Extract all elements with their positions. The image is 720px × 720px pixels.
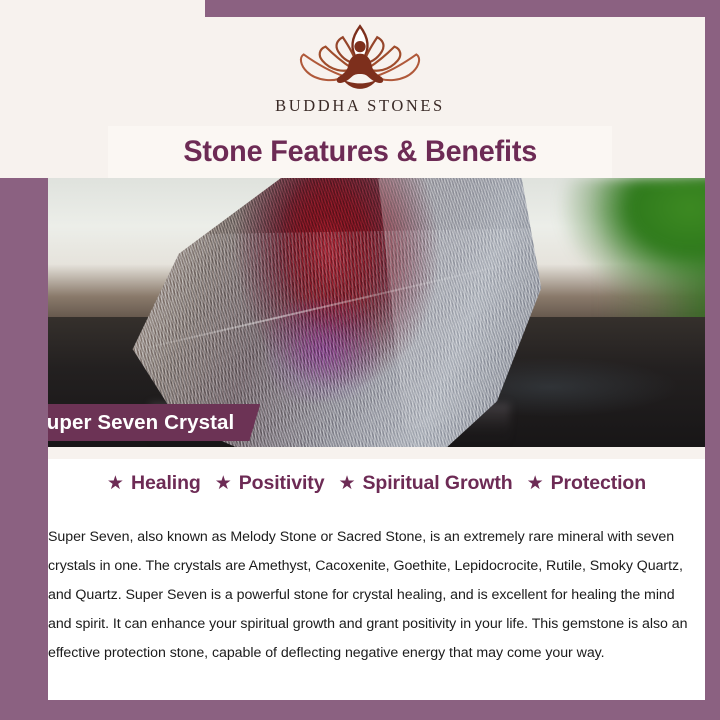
brand-logo: BUDDHA STONES — [0, 20, 720, 116]
frame-left-edge — [0, 178, 15, 720]
product-caption-banner: Super Seven Crystal — [15, 404, 260, 441]
title-band: Stone Features & Benefits — [108, 126, 612, 178]
product-caption: Super Seven Crystal — [33, 411, 234, 435]
benefit-label: Protection — [551, 472, 646, 495]
benefit-label: Spiritual Growth — [363, 472, 513, 495]
benefit-label: Positivity — [239, 472, 325, 495]
frame-left-inner-band — [15, 178, 48, 700]
star-icon: ★ — [107, 474, 124, 493]
star-icon: ★ — [215, 474, 232, 493]
lotus-meditation-icon — [280, 20, 440, 92]
star-icon: ★ — [527, 474, 544, 493]
page-title: Stone Features & Benefits — [183, 135, 537, 169]
benefit-item-positivity: ★ Positivity — [215, 472, 325, 495]
brand-wordmark: BUDDHA STONES — [0, 96, 720, 116]
benefit-item-healing: ★ Healing — [107, 472, 201, 495]
infographic-page: BUDDHA STONES Stone Features & Benefits … — [0, 0, 720, 720]
frame-bottom-edge — [0, 700, 720, 720]
description-paragraph: Super Seven, also known as Melody Stone … — [48, 523, 693, 668]
star-icon: ★ — [338, 474, 355, 493]
benefit-item-protection: ★ Protection — [527, 472, 646, 495]
frame-top-bar — [205, 0, 720, 17]
photo-foliage — [520, 178, 720, 328]
benefit-item-spiritual-growth: ★ Spiritual Growth — [338, 472, 512, 495]
frame-right-edge — [705, 0, 720, 720]
cream-divider — [15, 447, 705, 459]
benefits-row: ★ Healing ★ Positivity ★ Spiritual Growt… — [48, 472, 705, 495]
body-section: ★ Healing ★ Positivity ★ Spiritual Growt… — [15, 447, 705, 700]
benefit-label: Healing — [131, 472, 201, 495]
